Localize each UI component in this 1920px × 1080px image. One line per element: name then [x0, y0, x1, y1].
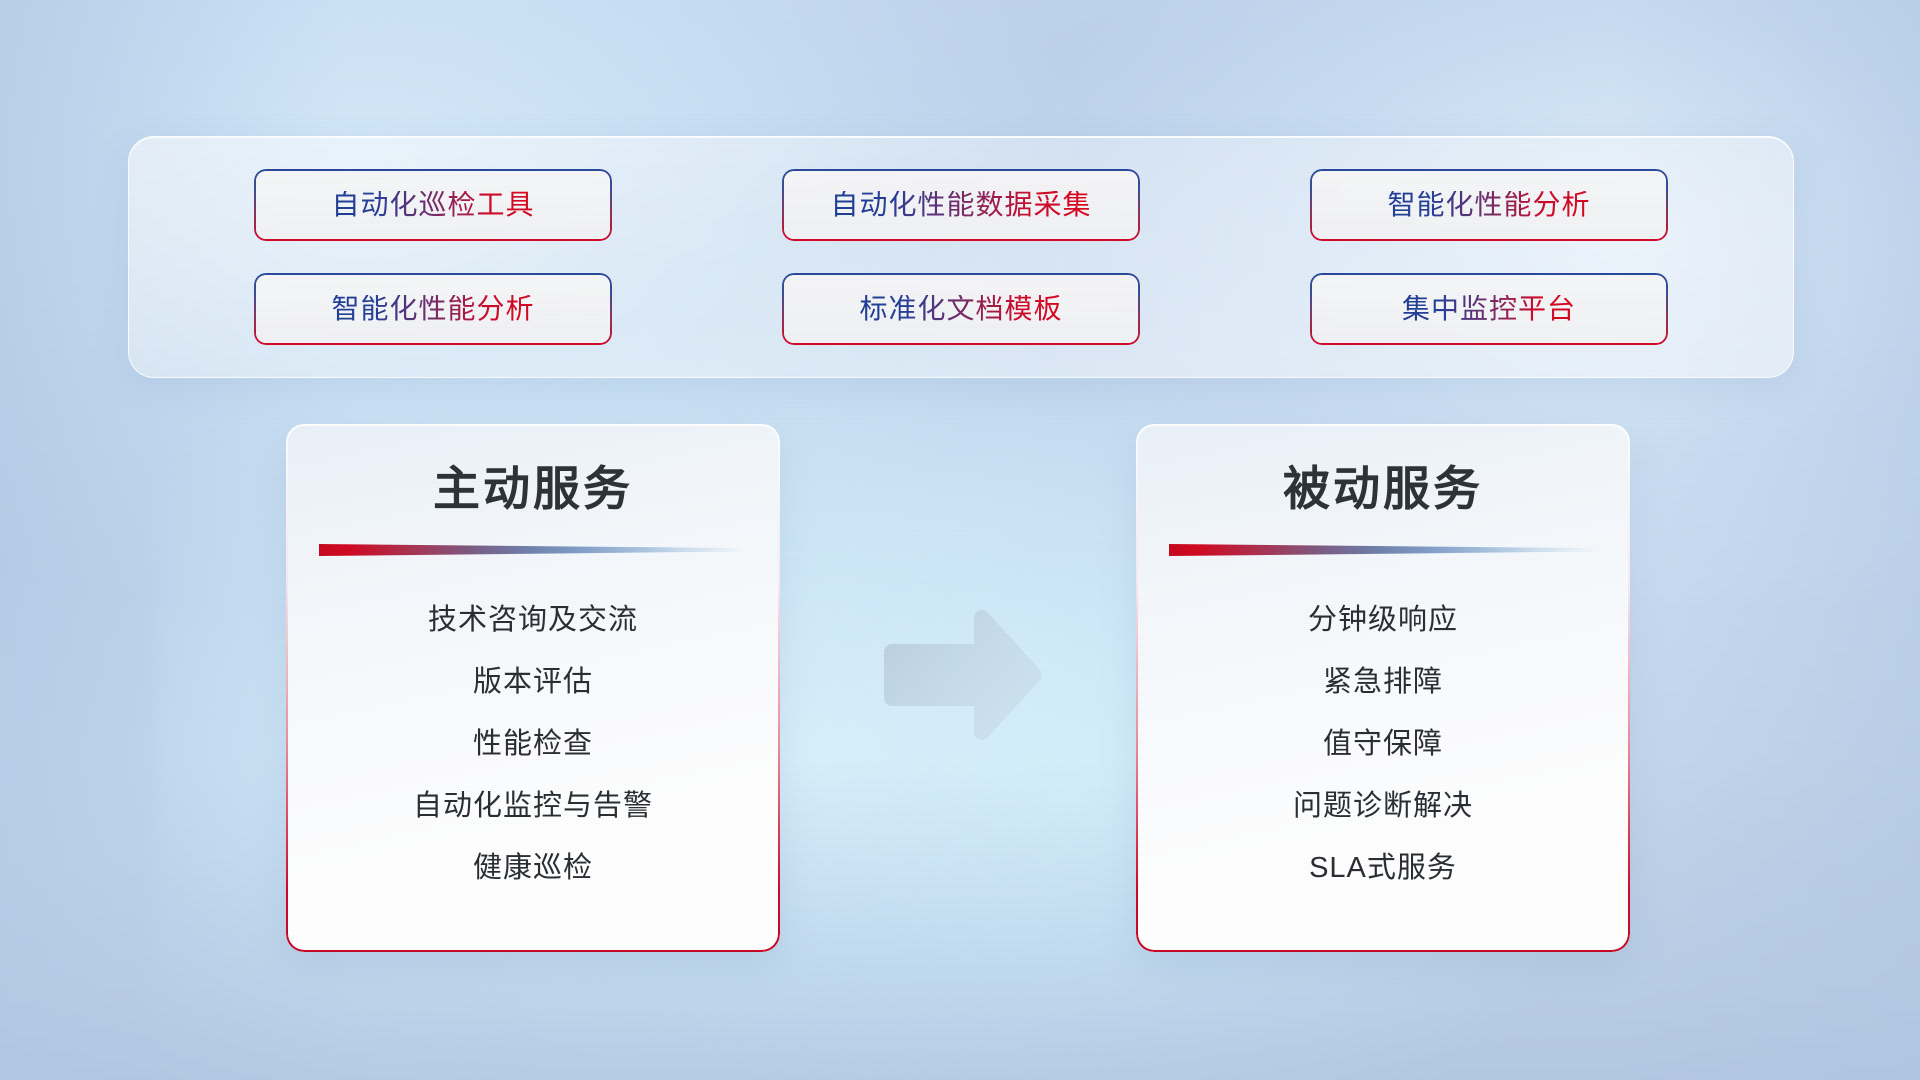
- capability-pill-centralized-monitoring-platform[interactable]: 集中监控平台: [1310, 273, 1668, 345]
- list-item[interactable]: 技术咨询及交流: [428, 590, 638, 652]
- list-item[interactable]: 值守保障: [1323, 714, 1443, 776]
- service-card-proactive[interactable]: 主动服务 技术咨询及交流 版本评估 性能检查 自动化监控与告警 健康巡检: [286, 424, 780, 952]
- service-card-item-list: 技术咨询及交流 版本评估 性能检查 自动化监控与告警 健康巡检: [286, 590, 780, 900]
- service-card-reactive[interactable]: 被动服务 分钟级响应 紧急排障 值守保障 问题诊断解决 SLA式服务: [1136, 424, 1630, 952]
- list-item[interactable]: 问题诊断解决: [1293, 776, 1473, 838]
- capability-pill-intelligent-performance-analysis-b[interactable]: 智能化性能分析: [254, 273, 612, 345]
- service-card-title: 主动服务: [286, 462, 780, 516]
- capability-pill-label: 智能化性能分析: [1387, 191, 1590, 219]
- capability-pill-automated-inspection-tool[interactable]: 自动化巡检工具: [254, 169, 612, 241]
- service-card-divider: [1169, 544, 1597, 556]
- capability-pill-label: 智能化性能分析: [331, 295, 534, 323]
- service-card-item-list: 分钟级响应 紧急排障 值守保障 问题诊断解决 SLA式服务: [1136, 590, 1630, 900]
- divider-wedge-shape: [319, 544, 747, 556]
- capability-pill-standardized-document-template[interactable]: 标准化文档模板: [782, 273, 1140, 345]
- capability-pill-label: 集中监控平台: [1402, 295, 1576, 323]
- list-item[interactable]: 性能检查: [473, 714, 593, 776]
- arrow-right-icon: [878, 610, 1046, 750]
- service-card-title: 被动服务: [1136, 462, 1630, 516]
- capability-pill-automated-performance-data-collection[interactable]: 自动化性能数据采集: [782, 169, 1140, 241]
- capability-pill-intelligent-performance-analysis-a[interactable]: 智能化性能分析: [1310, 169, 1668, 241]
- list-item[interactable]: 紧急排障: [1323, 652, 1443, 714]
- divider-wedge-shape: [1169, 544, 1597, 556]
- capability-pill-label: 标准化文档模板: [859, 295, 1062, 323]
- capability-pill-label: 自动化性能数据采集: [830, 191, 1091, 219]
- list-item[interactable]: SLA式服务: [1309, 838, 1457, 900]
- capabilities-panel: 自动化巡检工具 自动化性能数据采集 智能化性能分析 智能化性能分析 标准化文档模…: [128, 136, 1794, 378]
- list-item[interactable]: 自动化监控与告警: [413, 776, 653, 838]
- list-item[interactable]: 健康巡检: [473, 838, 593, 900]
- service-card-divider: [319, 544, 747, 556]
- capability-pill-label: 自动化巡检工具: [331, 191, 534, 219]
- list-item[interactable]: 版本评估: [473, 652, 593, 714]
- list-item[interactable]: 分钟级响应: [1308, 590, 1458, 652]
